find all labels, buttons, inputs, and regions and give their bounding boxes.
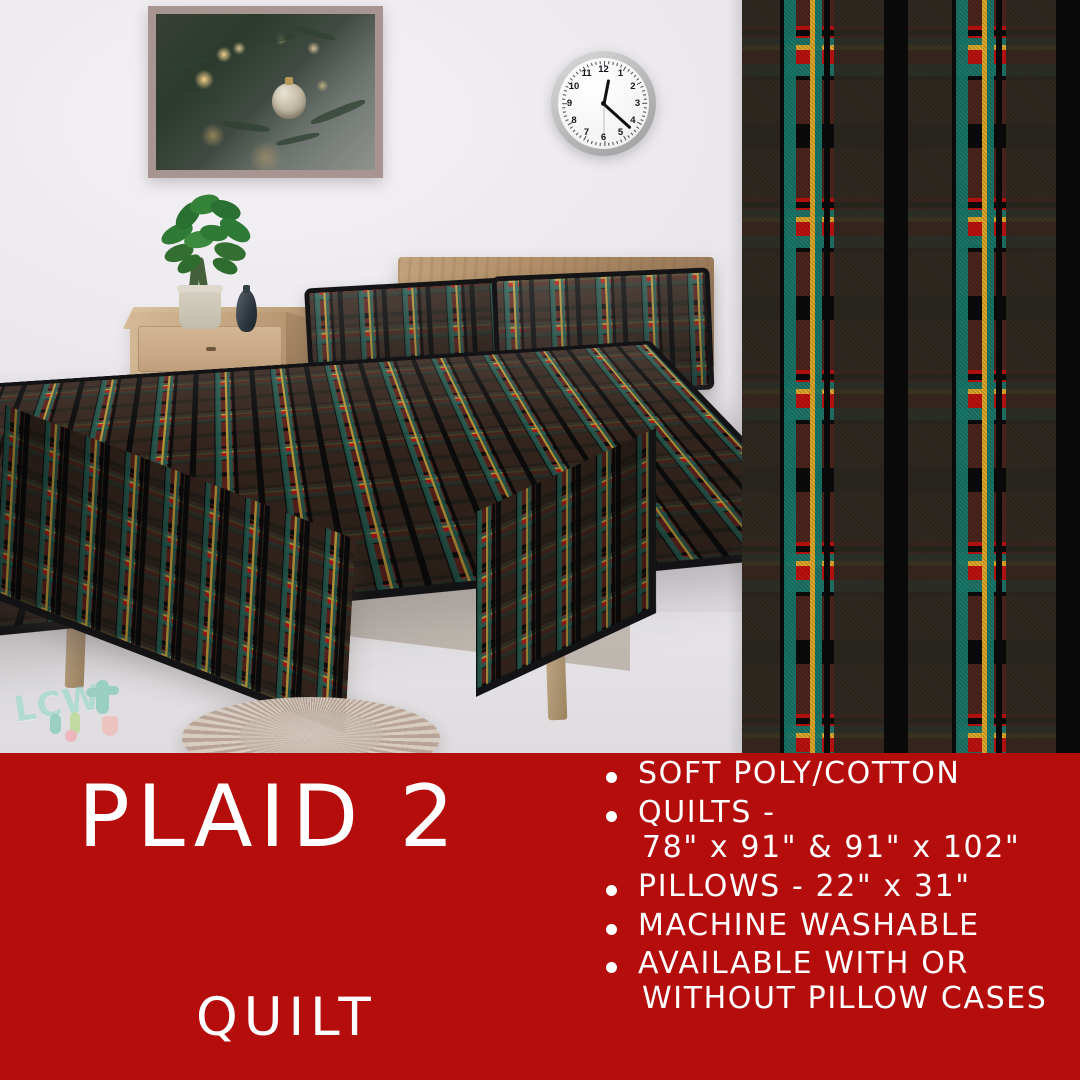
- feature-text: SOFT POLY/COTTON: [638, 756, 960, 791]
- feature-item: AVAILABLE WITH ORWITHOUT PILLOW CASES: [596, 949, 1076, 1015]
- clock-tick: [604, 61, 605, 66]
- clock-tick: [599, 61, 600, 64]
- clock-tick: [590, 141, 592, 144]
- clock-tick: [627, 69, 630, 72]
- potted-plant: [160, 195, 248, 295]
- weave-texture: [742, 0, 1080, 755]
- clock-tick: [627, 135, 630, 138]
- clock-tick: [590, 63, 592, 66]
- clock-numeral: 7: [581, 127, 593, 139]
- clock-tick: [612, 142, 614, 145]
- clock-tick: [643, 99, 646, 100]
- clock-tick: [586, 139, 588, 142]
- clock-tick: [636, 126, 639, 129]
- clock-tick: [569, 126, 572, 129]
- clock-tick: [562, 103, 567, 104]
- feature-item: QUILTS -78" x 91" & 91" x 102": [596, 798, 1076, 864]
- clock-tick: [572, 75, 575, 78]
- clock-tick: [641, 90, 644, 92]
- cactus-icon: [50, 714, 61, 734]
- feature-continuation: WITHOUT PILLOW CASES: [638, 984, 1076, 1015]
- product-title: PLAID 2: [78, 774, 461, 860]
- cactus-icon: [108, 686, 119, 695]
- clock-numeral: 2: [627, 81, 639, 93]
- clock-tick: [633, 130, 636, 133]
- feature-text: MACHINE WASHABLE: [638, 908, 980, 943]
- flower-icon: [102, 716, 118, 736]
- clock-tick: [562, 94, 565, 96]
- clock-tick: [640, 119, 643, 121]
- clock-tick: [612, 62, 614, 65]
- feature-item: SOFT POLY/COTTON: [596, 759, 1076, 790]
- bedroom-photo: 121234567891011: [0, 0, 742, 755]
- info-banner: PLAID 2 QUILT SOFT POLY/COTTONQUILTS -78…: [0, 753, 1080, 1080]
- clock-tick: [572, 130, 575, 133]
- feature-text: QUILTS -: [638, 795, 776, 830]
- clock-tick: [565, 86, 568, 88]
- clock-tick: [608, 61, 609, 64]
- clock-tick: [643, 111, 646, 113]
- clock-face: 121234567891011: [558, 58, 649, 149]
- product-subtitle: QUILT: [196, 991, 377, 1044]
- flower-icon: [65, 730, 77, 742]
- clock-tick: [616, 63, 618, 66]
- wall-art-frame: [148, 6, 383, 178]
- clock-tick: [620, 139, 622, 142]
- drawer-handle: [206, 347, 216, 351]
- cactus-icon: [86, 688, 97, 697]
- christmas-tree-photo: [156, 14, 375, 170]
- clock-tick: [630, 133, 633, 136]
- clock-tick: [604, 141, 605, 146]
- clock-tick: [595, 62, 597, 65]
- clock-tick: [595, 142, 597, 145]
- clock-tick: [643, 107, 646, 108]
- feature-continuation: 78" x 91" & 91" x 102": [638, 833, 1076, 864]
- clock-tick: [616, 141, 618, 144]
- clock-tick: [563, 115, 566, 117]
- clock-tick: [579, 69, 582, 72]
- product-marketing-image: 121234567891011: [0, 0, 1080, 1080]
- clock-tick: [599, 143, 600, 146]
- feature-text: AVAILABLE WITH OR: [638, 946, 969, 981]
- clock-tick: [608, 143, 609, 146]
- plant-pot: [179, 285, 221, 329]
- clock-tick: [643, 94, 646, 96]
- clock-tick: [642, 103, 647, 104]
- feature-list: SOFT POLY/COTTONQUILTS -78" x 91" & 91" …: [596, 759, 1076, 1023]
- clock-tick: [640, 86, 643, 88]
- wall-clock: 121234567891011: [551, 51, 656, 156]
- clock-tick: [562, 99, 565, 100]
- feature-text: PILLOWS - 22" x 31": [638, 869, 971, 904]
- clock-tick: [575, 72, 578, 75]
- feature-item: MACHINE WASHABLE: [596, 911, 1076, 942]
- ceramic-vase: [236, 290, 257, 332]
- clock-tick: [562, 111, 565, 113]
- feature-item: PILLOWS - 22" x 31": [596, 872, 1076, 903]
- tartan-plaid-swatch: [742, 0, 1080, 755]
- clock-numeral: 8: [568, 115, 580, 127]
- clock-tick: [563, 90, 566, 92]
- lcw-watermark: LCW: [10, 672, 160, 748]
- clock-center-pin: [601, 101, 606, 106]
- clock-tick: [633, 75, 636, 78]
- clock-tick: [575, 133, 578, 136]
- ornament-icon: [272, 83, 306, 119]
- clock-tick: [630, 72, 633, 75]
- photo-edge-shadow: [728, 0, 742, 755]
- clock-tick: [641, 115, 644, 117]
